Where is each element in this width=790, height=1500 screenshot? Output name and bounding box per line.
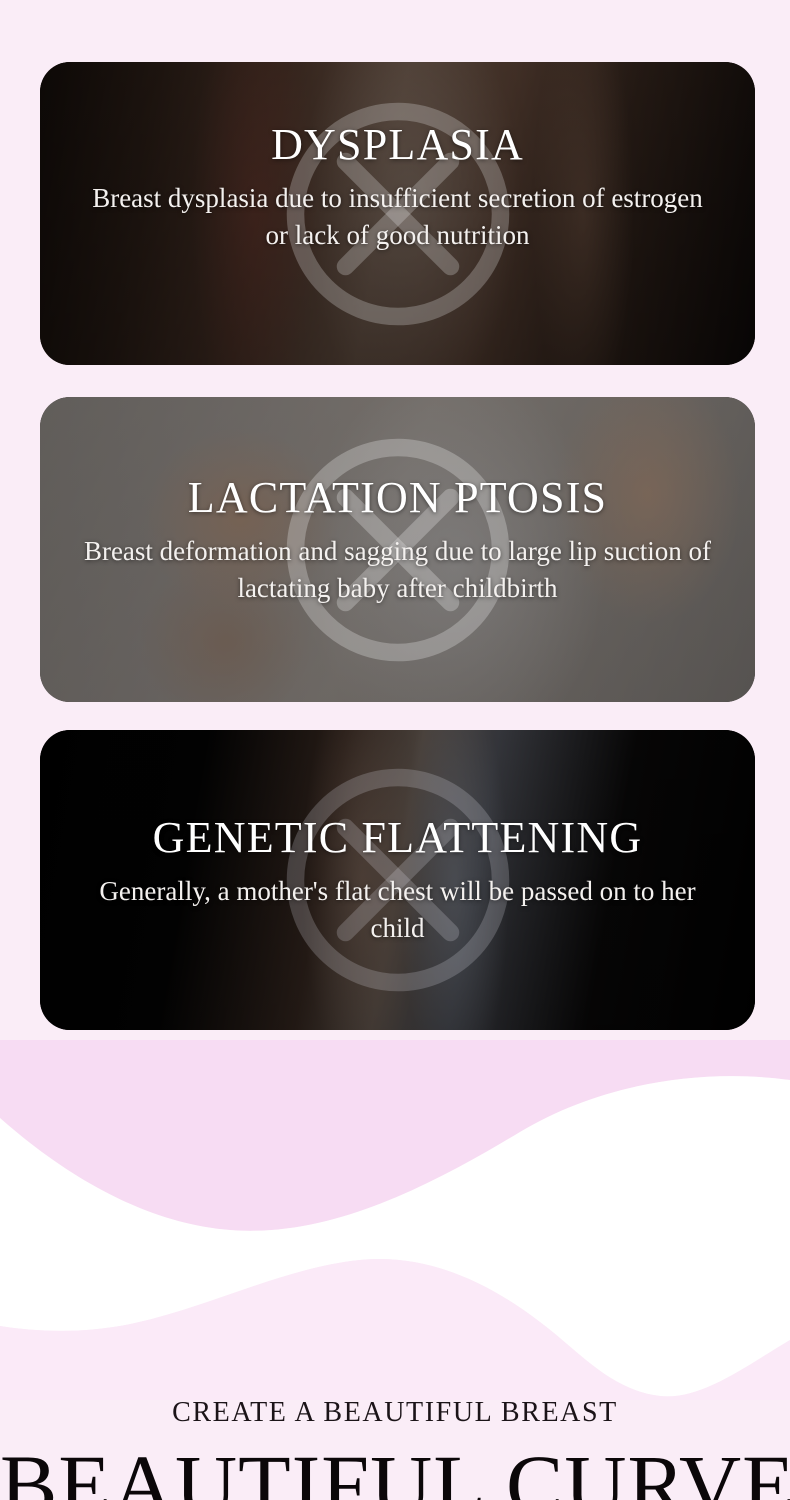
card-description: Breast deformation and sagging due to la…	[83, 533, 713, 607]
card-text-block: LACTATION PTOSIS Breast deformation and …	[40, 397, 755, 702]
card-description: Breast dysplasia due to insufficient sec…	[83, 180, 713, 254]
footer-tagline: CREATE A BEAUTIFUL BREAST	[0, 1396, 790, 1430]
card-title: GENETIC FLATTENING	[153, 815, 643, 861]
card-text-block: GENETIC FLATTENING Generally, a mother's…	[40, 730, 755, 1030]
footer-headline: BEAUTIFUL CURVE	[0, 1442, 790, 1500]
card-title: LACTATION PTOSIS	[188, 475, 607, 521]
card-description: Generally, a mother's flat chest will be…	[83, 873, 713, 947]
card-dysplasia[interactable]: DYSPLASIA Breast dysplasia due to insuff…	[40, 62, 755, 365]
footer-block: CREATE A BEAUTIFUL BREAST BEAUTIFUL CURV…	[0, 1396, 790, 1500]
card-genetic-flattening[interactable]: GENETIC FLATTENING Generally, a mother's…	[40, 730, 755, 1030]
card-lactation-ptosis[interactable]: LACTATION PTOSIS Breast deformation and …	[40, 397, 755, 702]
card-text-block: DYSPLASIA Breast dysplasia due to insuff…	[40, 62, 755, 365]
wave-decoration	[0, 1040, 790, 1400]
card-title: DYSPLASIA	[271, 122, 524, 168]
poster-root: DYSPLASIA Breast dysplasia due to insuff…	[0, 0, 790, 1500]
